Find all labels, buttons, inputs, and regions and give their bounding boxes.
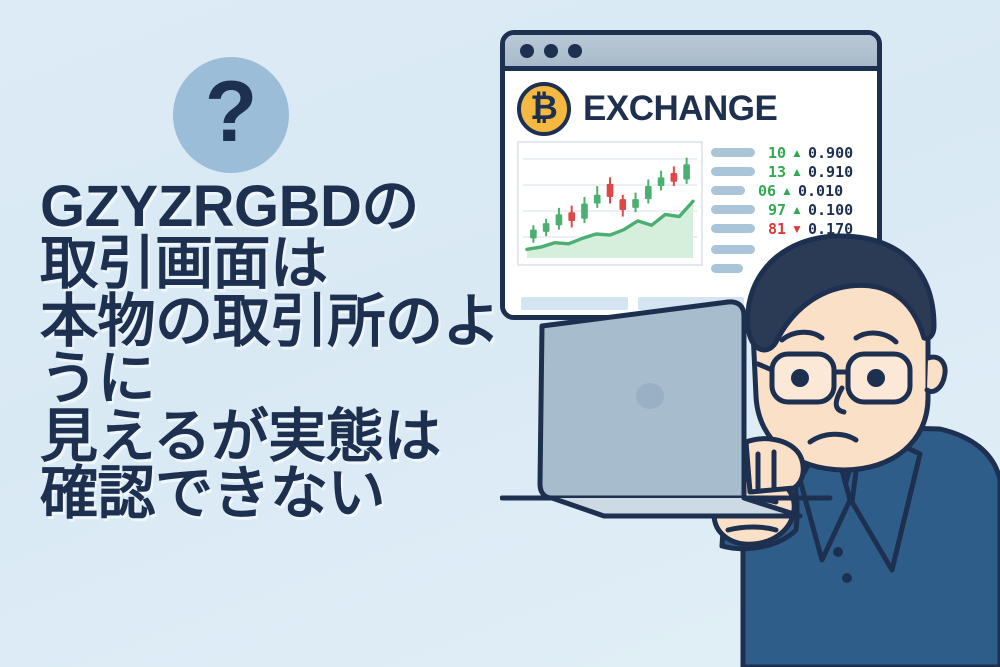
arrow-up-icon: ▲ xyxy=(791,147,803,159)
price-value: 0.910 xyxy=(808,163,853,181)
question-mark-icon: ? xyxy=(205,69,258,155)
typing-hand xyxy=(746,439,803,492)
question-badge: ? xyxy=(173,57,289,173)
price-change: 97 xyxy=(760,201,786,219)
price-row[interactable]: 10▲0.900 xyxy=(711,143,865,162)
ticker-placeholder xyxy=(711,167,755,176)
minimize-icon[interactable] xyxy=(544,44,558,58)
poster-canvas: ? GZYZRGBDの 取引画面は 本物の取引所のように 見えるが実態は 確認で… xyxy=(0,0,1000,667)
arrow-up-icon: ▲ xyxy=(781,185,793,197)
price-change: 06 xyxy=(750,182,776,200)
glasses-icon xyxy=(758,354,910,402)
price-value: 0.100 xyxy=(808,201,853,219)
arrow-up-icon: ▲ xyxy=(791,204,803,216)
bitcoin-icon: ₿ xyxy=(517,82,571,136)
exchange-header: ₿ EXCHANGE xyxy=(517,81,865,137)
page-title: GZYZRGBDの 取引画面は 本物の取引所のように 見えるが実態は 確認できな… xyxy=(40,178,510,522)
price-row[interactable]: 06▲0.010 xyxy=(711,181,865,200)
price-change: 13 xyxy=(760,163,786,181)
ticker-placeholder xyxy=(711,148,755,157)
exchange-title: EXCHANGE xyxy=(583,89,777,129)
price-change: 10 xyxy=(760,144,786,162)
bitcoin-symbol: ₿ xyxy=(530,91,558,125)
ticker-placeholder xyxy=(711,205,755,214)
price-value: 0.900 xyxy=(808,144,853,162)
price-row[interactable]: 13▲0.910 xyxy=(711,162,865,181)
arrow-up-icon: ▲ xyxy=(791,166,803,178)
ticker-placeholder xyxy=(711,186,745,195)
price-value: 0.010 xyxy=(798,182,843,200)
head xyxy=(748,236,945,470)
close-icon[interactable] xyxy=(520,44,534,58)
illustration xyxy=(500,230,1000,667)
browser-titlebar xyxy=(505,35,877,71)
price-row[interactable]: 97▲0.100 xyxy=(711,200,865,219)
maximize-icon[interactable] xyxy=(568,44,582,58)
